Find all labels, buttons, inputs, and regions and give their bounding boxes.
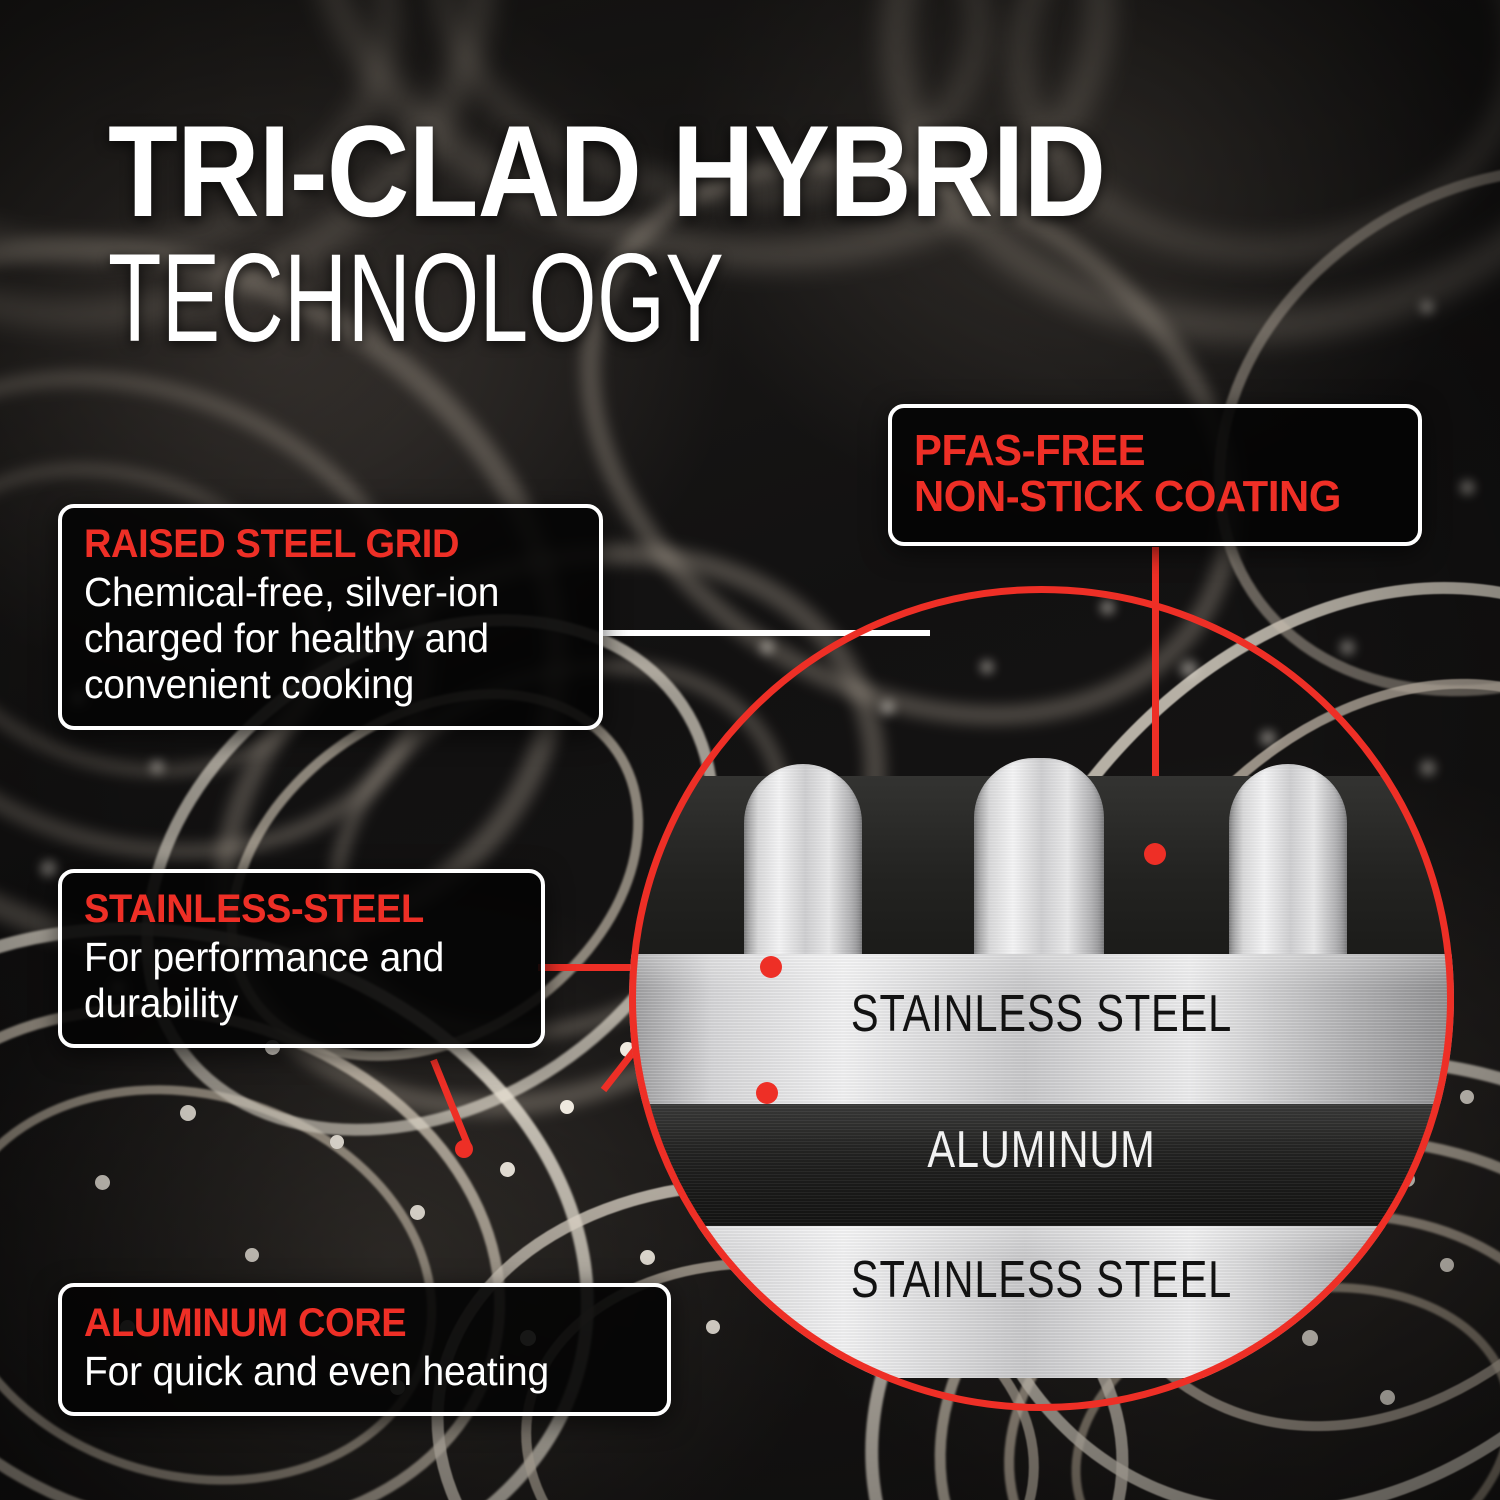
callout-aluminum-core[interactable]: ALUMINUM CORE For quick and even heating [58, 1283, 671, 1416]
infographic-canvas: TRI-CLAD HYBRID TECHNOLOGY STAINLESS STE… [0, 0, 1500, 1500]
callout-heading-pfas-free-line-2: NON-STICK COATING [914, 474, 1372, 520]
callout-heading-raised-steel-grid: RAISED STEEL GRID [84, 524, 552, 566]
callout-pfas-free[interactable]: PFAS-FREE NON-STICK COATING [888, 404, 1422, 546]
callout-heading-aluminum-core: ALUMINUM CORE [84, 1303, 617, 1345]
callout-body-aluminum-core: For quick and even heating [84, 1348, 617, 1394]
callout-heading-stainless-steel: STAINLESS-STEEL [84, 889, 497, 931]
callout-raised-steel-grid[interactable]: RAISED STEEL GRID Chemical-free, silver-… [58, 504, 603, 730]
callout-heading-pfas-free-line-1: PFAS-FREE [914, 428, 1372, 474]
callout-stainless-steel[interactable]: STAINLESS-STEEL For performance and dura… [58, 869, 545, 1048]
connector-dot-stainless-stub [455, 1140, 473, 1158]
callout-body-raised-steel-grid: Chemical-free, silver-ion charged for he… [84, 569, 552, 708]
page-title-line-2: TECHNOLOGY [108, 236, 892, 361]
page-title-line-1: TRI-CLAD HYBRID [108, 112, 1094, 232]
page-title: TRI-CLAD HYBRID TECHNOLOGY [108, 112, 1228, 361]
connector-dot-aluminum-core-top [756, 1082, 778, 1104]
connector-dot-stainless-steel-top [760, 956, 782, 978]
callout-body-stainless-steel: For performance and durability [84, 934, 497, 1027]
connector-dot-pfas-free-top [1144, 843, 1166, 865]
cutaway-circle-outline [629, 586, 1454, 1411]
